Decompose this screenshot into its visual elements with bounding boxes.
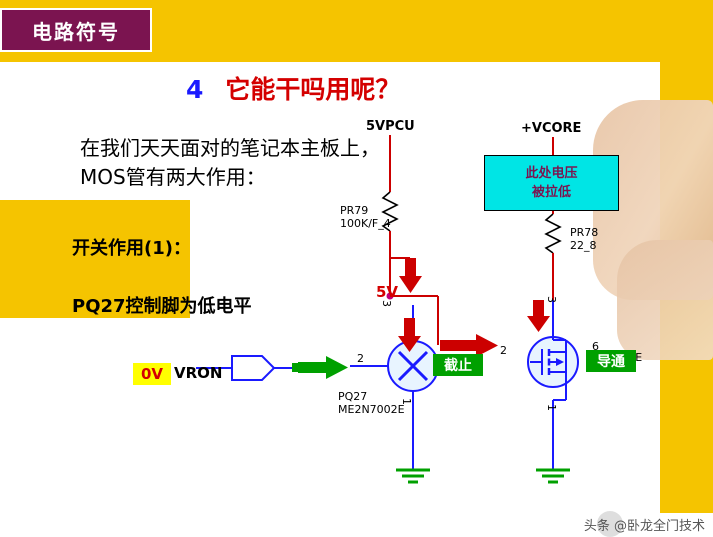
transistor-pq27-ref: PQ27 bbox=[338, 390, 405, 403]
label-rail-5vpcu: 5VPCU bbox=[366, 119, 415, 134]
body-paragraph: 在我们天天面对的笔记本主板上， MOS管有两大作用： bbox=[80, 134, 550, 192]
pin-left-1: 1 bbox=[400, 398, 413, 405]
resistor-pr78-value: 22_8 bbox=[570, 239, 598, 252]
pin-right-1: 1 bbox=[545, 404, 558, 411]
page-title-text: 它能干吗用呢？ bbox=[225, 75, 400, 104]
resistor-pr79-ref: PR79 bbox=[340, 204, 391, 217]
node-voltage-0v: 0V bbox=[133, 363, 171, 385]
resistor-pr78-ref: PR78 bbox=[570, 226, 598, 239]
node-voltage-5v: 5V bbox=[376, 283, 398, 301]
title-badge: 电路符号 bbox=[0, 8, 152, 52]
label-transistor-pq27: PQ27 ME2N7002E bbox=[338, 390, 405, 416]
subtitle-control-low: PQ27控制脚为低电平 bbox=[72, 292, 252, 318]
callout-line1: 此处电压 bbox=[525, 164, 577, 183]
subtitle-switch-role: 开关作用(1)： bbox=[72, 234, 191, 260]
body-paragraph-line1: 在我们天天面对的笔记本主板上， bbox=[80, 134, 550, 163]
title-badge-label: 电路符号 bbox=[32, 16, 120, 45]
page-title-number: 4 bbox=[186, 75, 203, 104]
watermark-text: 头条 @卧龙全门技术 bbox=[584, 515, 705, 534]
pin-right-3: 3 bbox=[545, 296, 558, 303]
label-resistor-pr78: PR78 22_8 bbox=[570, 226, 598, 252]
slide-canvas: 电路符号 4它能干吗用呢？ 在我们天天面对的笔记本主板上， MOS管有两大作用：… bbox=[0, 0, 713, 537]
pin-left-2: 2 bbox=[357, 352, 364, 365]
label-resistor-pr79: PR79 100K/F_4 bbox=[340, 204, 391, 230]
transistor-pq27-part: ME2N7002E bbox=[338, 403, 405, 416]
pin-left-3: 3 bbox=[380, 300, 393, 307]
label-rail-vcore: +VCORE bbox=[521, 121, 581, 136]
resistor-pr79-value: 100K/F_4 bbox=[340, 217, 391, 230]
decor-notch-lower bbox=[0, 318, 60, 428]
callout-voltage-pulled-low: 此处电压 被拉低 bbox=[484, 155, 619, 211]
callout-line2: 被拉低 bbox=[532, 183, 571, 202]
label-net-vron: VRON bbox=[174, 364, 222, 382]
state-badge-off: 截止 bbox=[433, 354, 483, 376]
pin-right-2: 2 bbox=[500, 344, 507, 357]
decor-notch-upper bbox=[0, 118, 60, 200]
body-paragraph-line2: MOS管有两大作用： bbox=[80, 163, 550, 192]
page-title: 4它能干吗用呢？ bbox=[186, 70, 400, 106]
hand-photo-lower bbox=[617, 240, 713, 360]
state-badge-on: 导通 bbox=[586, 350, 636, 372]
